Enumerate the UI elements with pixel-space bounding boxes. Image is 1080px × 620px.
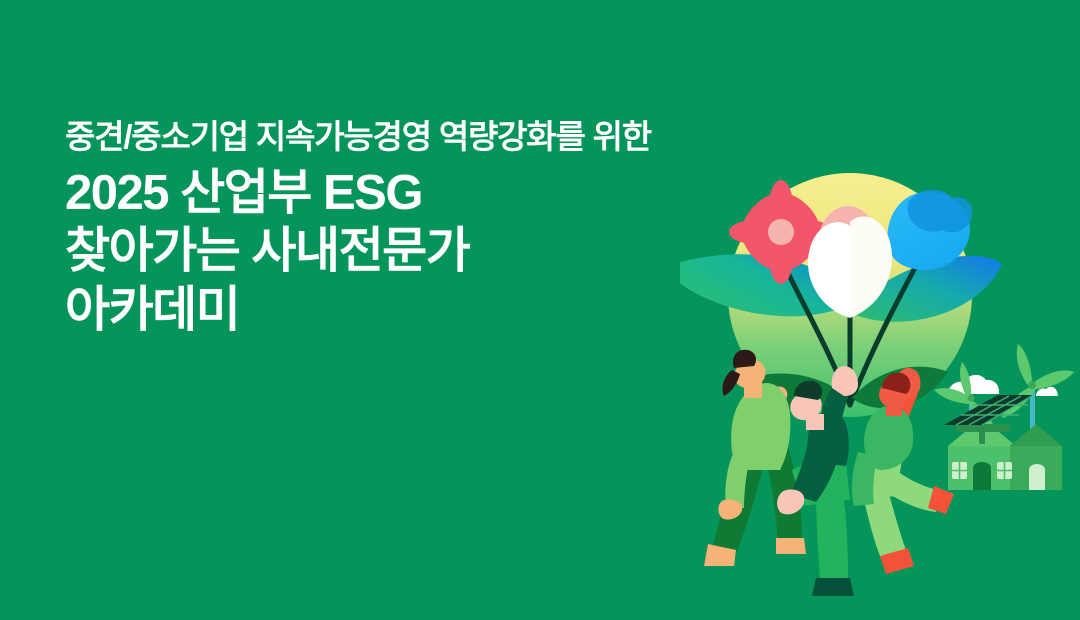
- daisy-center: [768, 219, 794, 245]
- banner-subtitle: 중견/중소기업 지속가능경영 역량강화를 위한: [65, 118, 651, 157]
- banner-title-line-3: 아카데미: [65, 281, 651, 339]
- person-center-shoe: [812, 578, 854, 596]
- house-door: [973, 462, 991, 490]
- esg-illustration: [680, 0, 1080, 620]
- bell-shade: [908, 190, 972, 233]
- banner-title-line-1: 2025 산업부 ESG: [65, 164, 651, 222]
- house-roof-right: [1010, 424, 1062, 446]
- esg-academy-banner: 중견/중소기업 지속가능경영 역량강화를 위한 2025 산업부 ESG 찾아가…: [0, 0, 1080, 620]
- banner-title: 2025 산업부 ESG 찾아가는 사내전문가 아카데미: [65, 164, 651, 339]
- person-left-shoe-front: [776, 538, 806, 554]
- banner-text-block: 중견/중소기업 지속가능경영 역량강화를 위한 2025 산업부 ESG 찾아가…: [65, 118, 651, 339]
- person-left-hair: [733, 350, 756, 368]
- house-window-arched: [1029, 464, 1045, 490]
- banner-title-line-2: 찾아가는 사내전문가: [65, 222, 651, 280]
